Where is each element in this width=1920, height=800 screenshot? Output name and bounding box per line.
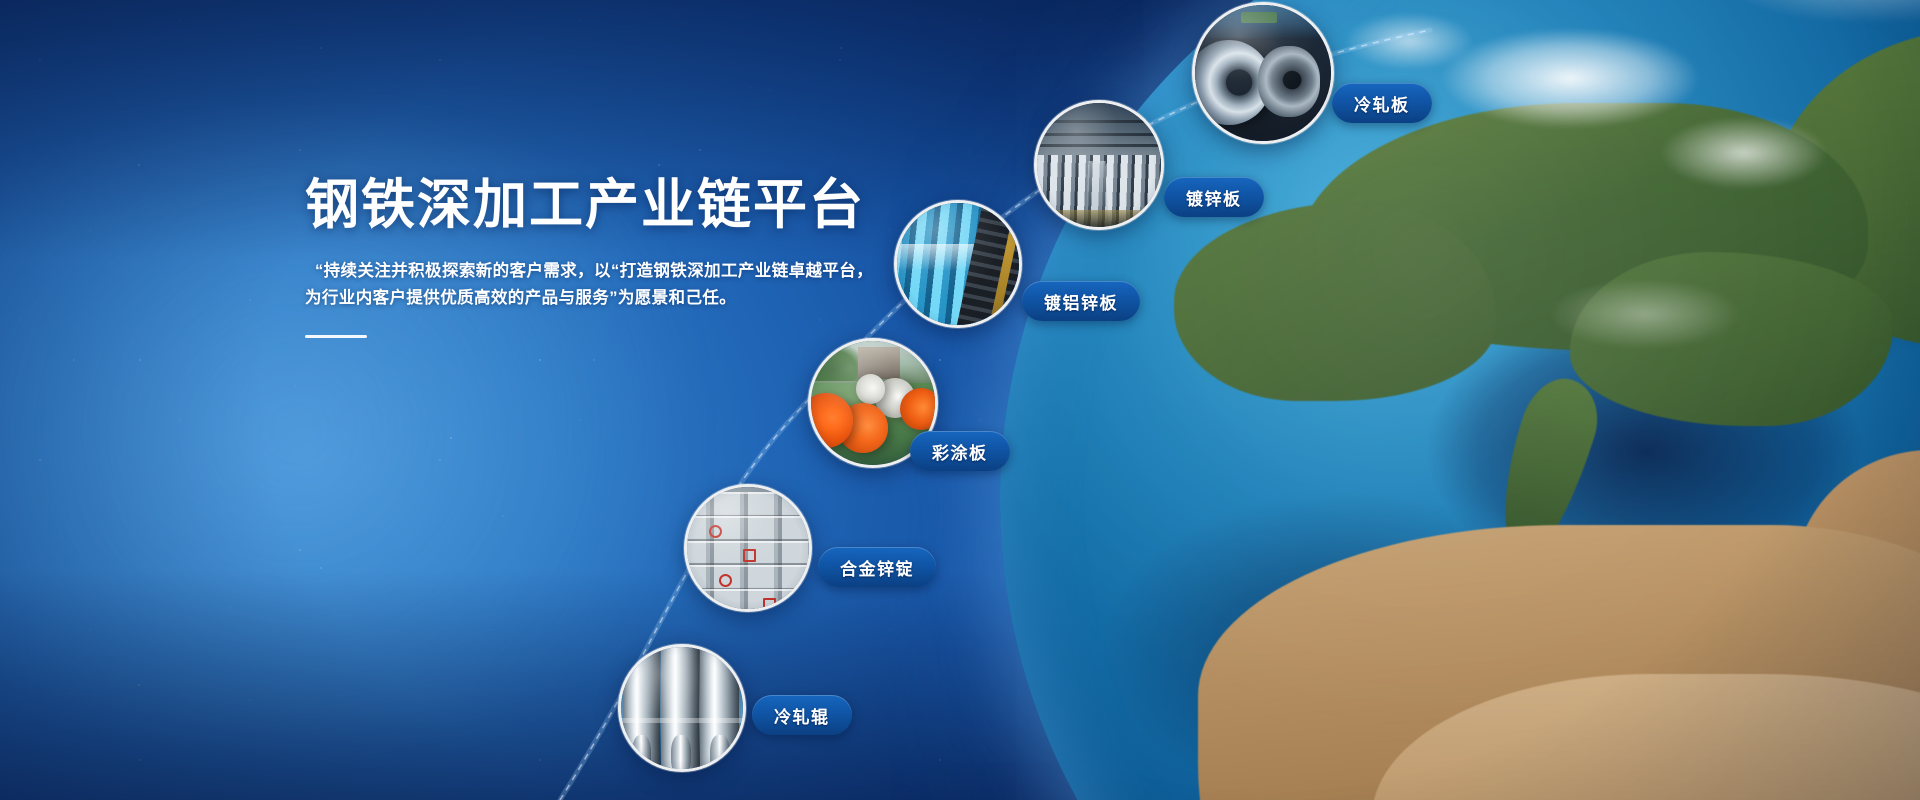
product-label-aluzinc-sheet[interactable]: 镀铝锌板 [1022, 281, 1140, 321]
product-label-cold-rolling-roller[interactable]: 冷轧辊 [752, 695, 852, 735]
product-thumb-galvanized-sheet[interactable] [1034, 100, 1164, 230]
hero-subtitle: “持续关注并积极探索新的客户需求，以“打造钢铁深加工产业链卓越平台， 为行业内客… [305, 258, 925, 311]
ingot-row-2 [684, 516, 812, 541]
roller-neck-2 [671, 735, 691, 772]
roller-neck-3 [710, 735, 730, 772]
product-label-color-coated-sheet[interactable]: 彩涂板 [910, 431, 1010, 471]
crane-beam [1241, 12, 1276, 23]
ingot-row-5 [684, 589, 812, 612]
orange-coil-right [900, 388, 938, 430]
cold-rolling-rollers-photo [621, 647, 743, 769]
product-thumb-cold-rolled-sheet[interactable] [1192, 2, 1334, 144]
roller-shoulder-band [621, 718, 743, 723]
warehouse-floor [1037, 210, 1161, 227]
product-label-cold-rolled-sheet[interactable]: 冷轧板 [1332, 83, 1432, 123]
product-thumb-zinc-alloy-ingot[interactable] [684, 484, 812, 612]
roof-beam-3 [1037, 144, 1161, 147]
hero-copy: 钢铁深加工产业链平台 “持续关注并积极探索新的客户需求，以“打造钢铁深加工产业链… [305, 178, 925, 338]
ingot-row-4 [684, 565, 812, 590]
product-thumb-cold-rolling-roller[interactable] [618, 644, 746, 772]
brand-mark-2 [743, 549, 756, 562]
galvanized-warehouse-photo [1037, 103, 1161, 227]
product-label-galvanized-sheet[interactable]: 镀锌板 [1164, 177, 1264, 217]
brand-mark-1 [709, 525, 722, 538]
ingot-row-1 [684, 492, 812, 517]
hero-banner: 钢铁深加工产业链平台 “持续关注并积极探索新的客户需求，以“打造钢铁深加工产业链… [0, 0, 1920, 800]
cold-rolled-coils-photo [1195, 5, 1331, 141]
background-vignette [0, 0, 1920, 800]
hero-subtitle-line-1: “持续关注并积极探索新的客户需求，以“打造钢铁深加工产业链卓越平台， [305, 258, 925, 285]
hero-subtitle-line-2: 为行业内客户提供优质高效的产品与服务”为愿景和己任。 [305, 285, 925, 312]
roof-beam-1 [1037, 120, 1161, 123]
product-thumb-aluzinc-sheet[interactable] [894, 200, 1022, 328]
roof-beam-2 [1037, 133, 1161, 136]
aluzinc-blue-sheet-photo [897, 203, 1019, 325]
product-label-zinc-alloy-ingot[interactable]: 合金锌锭 [818, 547, 936, 587]
title-divider-rule [305, 335, 367, 338]
brand-mark-3 [719, 574, 732, 587]
zinc-alloy-ingots-photo [687, 487, 809, 609]
roller-neck-1 [632, 735, 652, 772]
page-title: 钢铁深加工产业链平台 [305, 178, 925, 232]
